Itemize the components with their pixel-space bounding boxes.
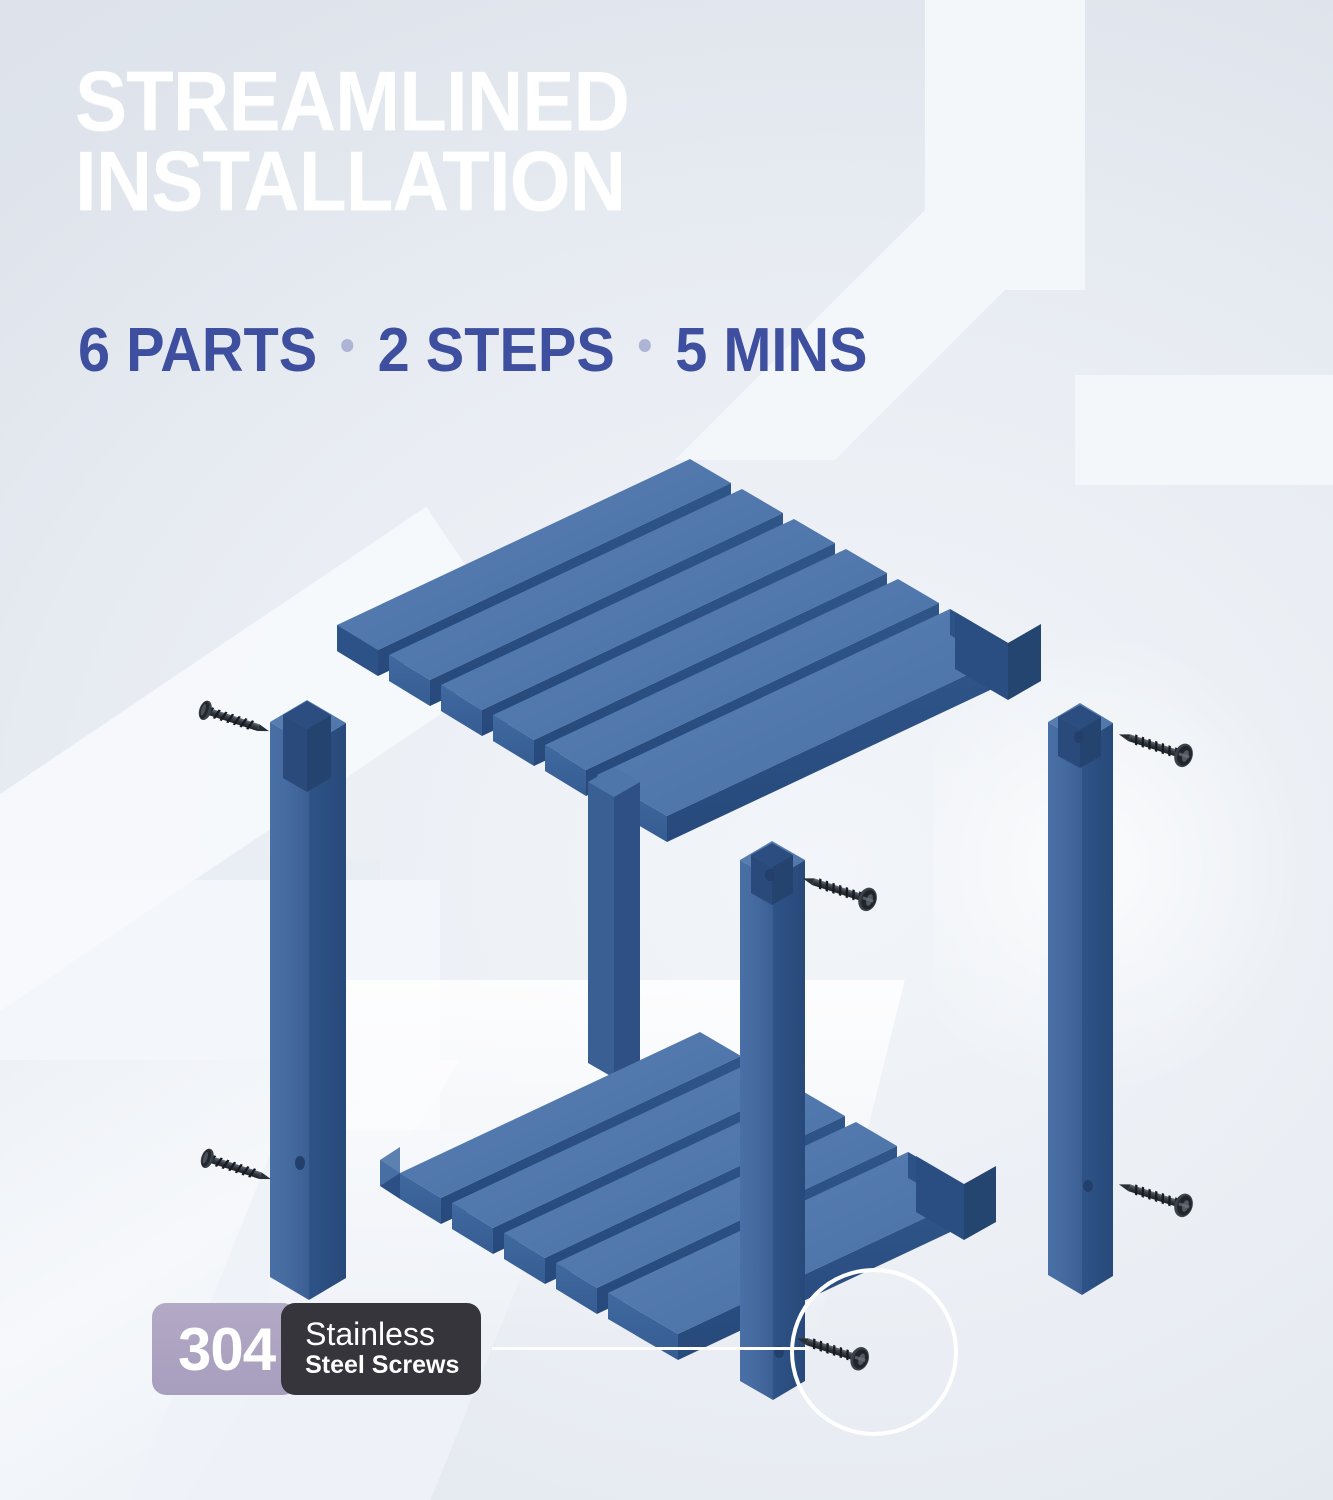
badge-label-line-1: Stainless xyxy=(305,1318,459,1352)
badge-grade-number: 304 xyxy=(152,1303,297,1395)
leg-right xyxy=(1048,703,1113,1295)
separator-dot-icon xyxy=(639,339,651,352)
stat-steps: 2 STEPS xyxy=(378,315,615,386)
screw-bottom-right xyxy=(1115,1173,1196,1220)
leg-back-center xyxy=(588,767,640,1078)
callout-magnifier-circle xyxy=(790,1268,958,1436)
table-top-panel xyxy=(337,459,1041,842)
leg-left xyxy=(270,700,346,1300)
page-title: STREAMLINED INSTALLATION xyxy=(75,62,629,222)
bottom-shelf-right-slats xyxy=(800,1026,985,1120)
subtitle-stats: 6 PARTS 2 STEPS 5 MINS xyxy=(78,315,868,386)
top-panel-slats xyxy=(337,459,1020,842)
leg-front-center xyxy=(740,841,805,1400)
callout-leader-line xyxy=(492,1347,810,1350)
separator-dot-icon xyxy=(341,339,353,352)
material-badge: 304 Stainless Steel Screws xyxy=(152,1303,481,1395)
screw-mid-center xyxy=(799,867,880,914)
screw-top-right xyxy=(1115,723,1196,770)
infographic-canvas: STREAMLINED INSTALLATION 6 PARTS 2 STEPS… xyxy=(0,0,1333,1500)
stat-mins: 5 MINS xyxy=(675,315,867,386)
stat-parts: 6 PARTS xyxy=(78,315,317,386)
screw-top-left xyxy=(196,699,272,741)
badge-label-line-2: Steel Screws xyxy=(305,1351,459,1380)
headline-line-2: INSTALLATION xyxy=(75,142,629,222)
badge-label: Stainless Steel Screws xyxy=(281,1303,481,1395)
screw-bottom-left xyxy=(198,1147,274,1189)
